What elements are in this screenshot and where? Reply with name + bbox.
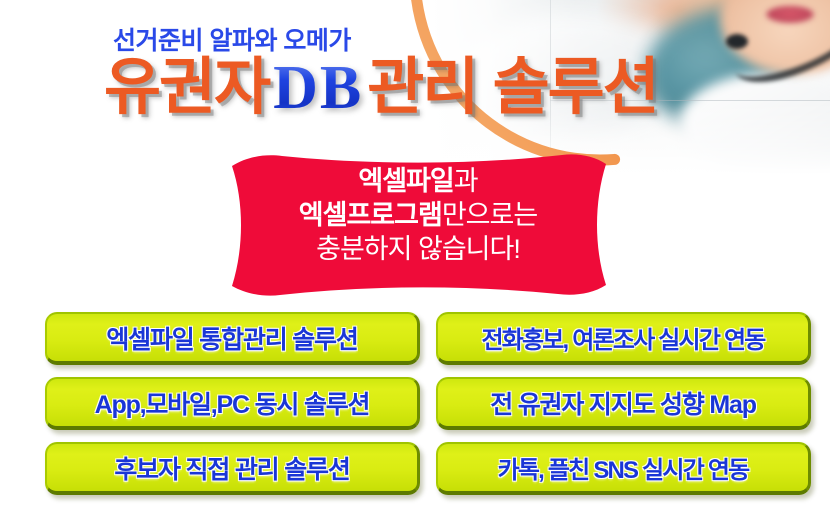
feature-button-label: 카톡, 플친 SNS 실시간 연동: [498, 450, 749, 485]
red-ribbon-callout: 엑셀파일과 엑셀프로그램만으로는 충분하지 않습니다!: [222, 152, 614, 297]
banner-subtitle: 선거준비 알파와 오메가: [113, 21, 351, 57]
feature-button-label: App,모바일,PC 동시 솔루션: [95, 385, 370, 421]
feature-button-excel-integration[interactable]: 엑셀파일 통합관리 솔루션: [45, 312, 420, 365]
feature-button-label: 후보자 직접 관리 솔루션: [114, 450, 349, 486]
ribbon-line1-strong: 엑셀파일: [358, 166, 453, 196]
feature-button-label: 전 유권자 지지도 성향 Map: [490, 385, 756, 421]
feature-button-grid: 엑셀파일 통합관리 솔루션 전화홍보, 여론조사 실시간 연동 App,모바일,…: [45, 312, 811, 495]
ribbon-line3: 충분하지 않습니다!: [222, 232, 614, 266]
title-part-2: 관리 솔루션: [367, 53, 657, 122]
feature-button-multiplatform[interactable]: App,모바일,PC 동시 솔루션: [45, 377, 420, 430]
ribbon-line2-light: 만으로는: [442, 200, 537, 230]
feature-button-phone-survey[interactable]: 전화홍보, 여론조사 실시간 연동: [436, 312, 811, 365]
promo-banner: 선거준비 알파와 오메가 유권자DB관리 솔루션 엑셀파일과 엑셀프로그램만으로…: [0, 0, 830, 520]
feature-button-label: 전화홍보, 여론조사 실시간 연동: [481, 320, 764, 355]
feature-button-sns-sync[interactable]: 카톡, 플친 SNS 실시간 연동: [436, 442, 811, 495]
feature-button-label: 엑셀파일 통합관리 솔루션: [106, 320, 357, 356]
feature-button-candidate-management[interactable]: 후보자 직접 관리 솔루션: [45, 442, 420, 495]
ribbon-line2-strong: 엑셀프로그램: [299, 200, 442, 230]
banner-title: 유권자DB관리 솔루션: [104, 57, 658, 119]
feature-button-support-map[interactable]: 전 유권자 지지도 성향 Map: [436, 377, 811, 430]
ribbon-line1-light: 과: [454, 166, 478, 196]
ribbon-message: 엑셀파일과 엑셀프로그램만으로는 충분하지 않습니다!: [222, 164, 614, 266]
title-db-highlight: DB: [269, 54, 367, 122]
title-part-1: 유권자: [104, 53, 269, 122]
